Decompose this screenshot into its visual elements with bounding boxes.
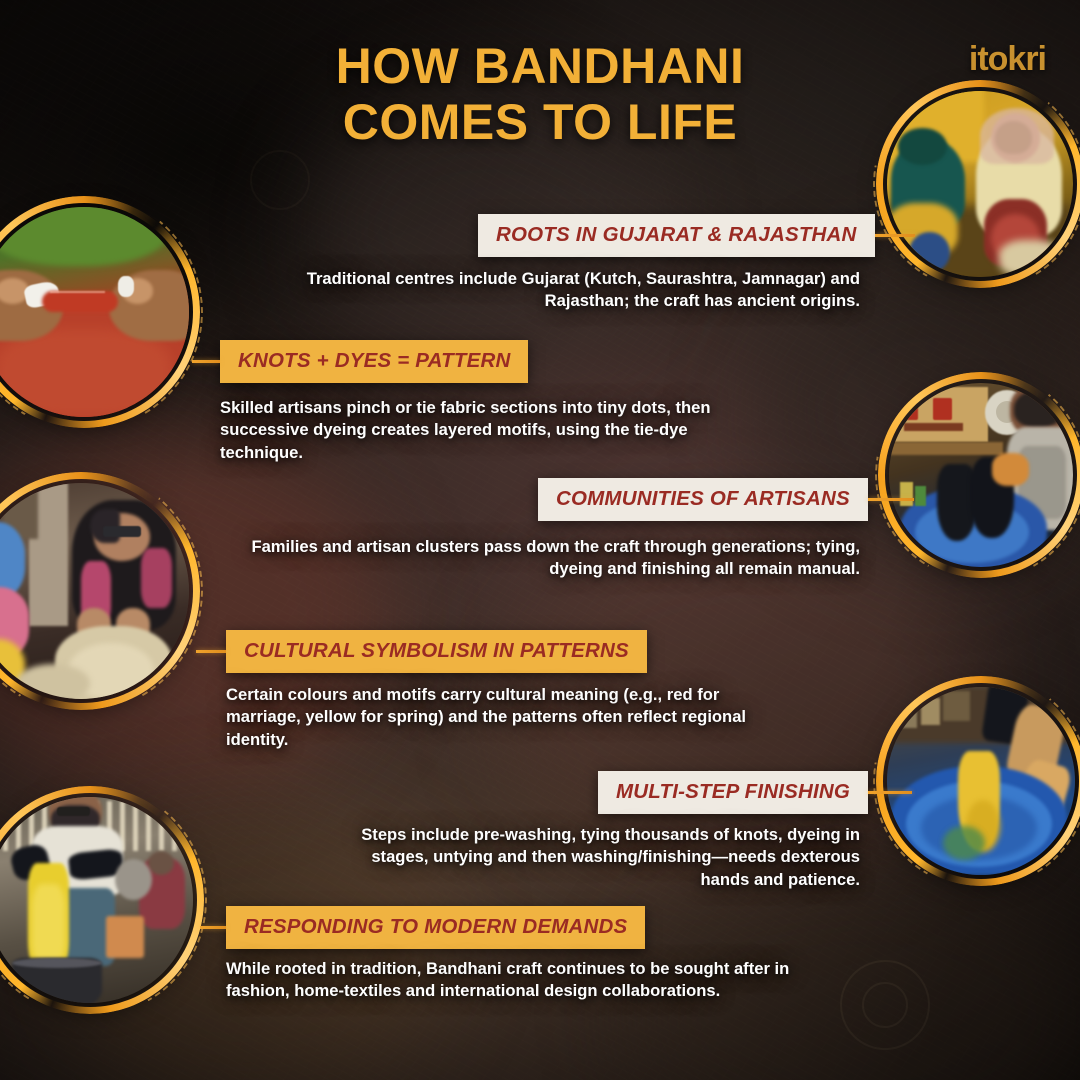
section-body-communities-text: Families and artisan clusters pass down … (251, 537, 860, 578)
photo-dyer-blue-tub (889, 383, 1073, 567)
section-body-modern-text: While rooted in tradition, Bandhani craf… (226, 959, 789, 1000)
photo-hands-knots (0, 207, 189, 417)
photo-lifting-yellow (0, 797, 193, 1003)
section-roots: ROOTS IN GUJARAT & RAJASTHAN (478, 214, 860, 257)
photo-circle-lifting-yellow (0, 786, 204, 1014)
connector-line (192, 360, 220, 363)
section-finishing: MULTI-STEP FINISHING (598, 771, 868, 814)
section-heading-modern: RESPONDING TO MODERN DEMANDS (226, 906, 645, 949)
photo-dye-vat-yellow (887, 687, 1075, 875)
section-heading-symbolism: CULTURAL SYMBOLISM IN PATTERNS (226, 630, 647, 673)
section-body-finishing-text: Steps include pre-washing, tying thousan… (361, 825, 860, 889)
section-heading-knots-text: KNOTS + DYES = PATTERN (238, 349, 510, 372)
photo-woman-bundle (0, 483, 189, 699)
section-body-symbolism-text: Certain colours and motifs carry cultura… (226, 685, 746, 749)
photo-circle-hands-knots (0, 196, 200, 428)
connector-line (868, 791, 912, 794)
photo-circle-dyer-blue-tub (878, 372, 1080, 578)
section-heading-modern-text: RESPONDING TO MODERN DEMANDS (244, 915, 627, 938)
section-heading-knots: KNOTS + DYES = PATTERN (220, 340, 528, 383)
connector-line (196, 650, 226, 653)
section-modern: RESPONDING TO MODERN DEMANDS (226, 906, 645, 949)
section-heading-roots: ROOTS IN GUJARAT & RAJASTHAN (478, 214, 875, 257)
connector-line (875, 234, 915, 237)
connector-line (868, 498, 914, 501)
section-symbolism: CULTURAL SYMBOLISM IN PATTERNS (226, 630, 647, 673)
photo-circle-tying-women (876, 80, 1080, 288)
section-body-communities: Families and artisan clusters pass down … (248, 536, 860, 581)
section-body-roots-text: Traditional centres include Gujarat (Kut… (307, 269, 860, 310)
section-heading-finishing-text: MULTI-STEP FINISHING (616, 780, 850, 803)
section-body-roots: Traditional centres include Gujarat (Kut… (268, 268, 860, 313)
section-heading-finishing: MULTI-STEP FINISHING (598, 771, 868, 814)
photo-tying-women (887, 91, 1073, 277)
section-body-finishing: Steps include pre-washing, tying thousan… (320, 824, 860, 891)
photo-circle-dye-vat-yellow (876, 676, 1080, 886)
section-communities: COMMUNITIES OF ARTISANS (538, 478, 868, 521)
section-heading-communities-text: COMMUNITIES OF ARTISANS (556, 487, 850, 510)
connector-line (200, 926, 226, 929)
photo-circle-woman-bundle (0, 472, 200, 710)
brand-logo: itokri (969, 40, 1046, 79)
section-heading-communities: COMMUNITIES OF ARTISANS (538, 478, 868, 521)
section-body-modern: While rooted in tradition, Bandhani craf… (226, 958, 792, 1003)
section-body-symbolism: Certain colours and motifs carry cultura… (226, 684, 786, 751)
section-heading-symbolism-text: CULTURAL SYMBOLISM IN PATTERNS (244, 639, 629, 662)
section-heading-roots-text: ROOTS IN GUJARAT & RAJASTHAN (496, 223, 857, 246)
section-body-knots-text: Skilled artisans pinch or tie fabric sec… (220, 398, 711, 462)
section-body-knots: Skilled artisans pinch or tie fabric sec… (220, 397, 760, 464)
section-knots: KNOTS + DYES = PATTERN (220, 340, 528, 383)
